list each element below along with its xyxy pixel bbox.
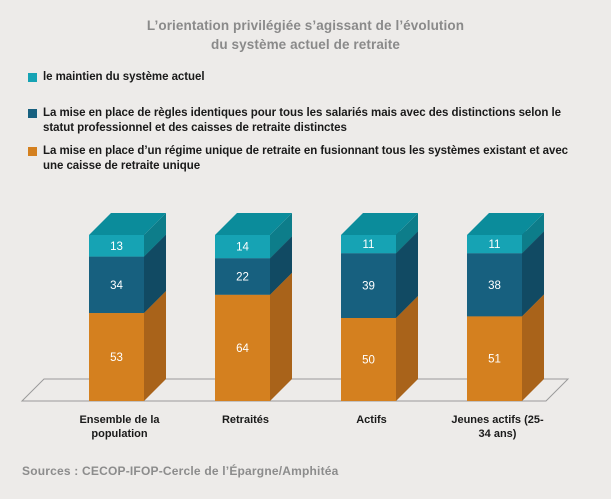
- bar-segment: 53: [89, 291, 166, 401]
- bar-segment: 34: [89, 235, 166, 313]
- chart-category-labels: Ensemble de lapopulationRetraitésActifsJ…: [79, 414, 544, 440]
- chart-bars: 533413642214503911513811: [89, 213, 544, 401]
- chart-legend: le maintien du système actuel La mise en…: [28, 70, 588, 186]
- category-label: population: [91, 428, 147, 440]
- legend-swatch-orange-icon: [28, 147, 37, 156]
- bar-value-label: 22: [236, 272, 249, 284]
- bar-segment: 13: [89, 213, 166, 257]
- bar-group: 533413: [89, 213, 166, 401]
- bar-segment: 11: [467, 213, 544, 253]
- bar-segment: 38: [467, 231, 544, 316]
- legend-swatch-blue-icon: [28, 109, 37, 118]
- chart-floor-plane: [22, 379, 568, 401]
- legend-swatch-teal-icon: [28, 73, 37, 82]
- legend-label-maintien: le maintien du système actuel: [43, 70, 205, 86]
- bar-value-label: 53: [110, 352, 123, 364]
- bar-segment: 11: [341, 213, 418, 253]
- bar-segment: 51: [467, 294, 544, 401]
- legend-item-regles-identiques[interactable]: La mise en place de règles identiques po…: [28, 106, 588, 137]
- bar-value-label: 11: [363, 239, 375, 251]
- category-label: Retraités: [222, 414, 269, 426]
- bar-value-label: 14: [236, 242, 249, 254]
- bar-value-label: 38: [488, 280, 501, 292]
- legend-label-regles-identiques: La mise en place de règles identiques po…: [43, 106, 588, 137]
- legend-item-maintien[interactable]: le maintien du système actuel: [28, 70, 588, 86]
- bar-group: 642214: [215, 213, 292, 401]
- bar-value-label: 39: [362, 281, 375, 293]
- page-title-line-1: L’orientation privilégiée s’agissant de …: [0, 16, 611, 35]
- bar-group: 503911: [341, 213, 418, 401]
- bar-segment: 22: [215, 236, 292, 295]
- bar-value-label: 13: [110, 241, 123, 253]
- bar-value-label: 50: [362, 355, 375, 367]
- legend-label-regime-unique: La mise en place d’un régime unique de r…: [43, 144, 588, 175]
- page-title: L’orientation privilégiée s’agissant de …: [0, 16, 611, 54]
- bar-value-label: 64: [236, 343, 249, 355]
- bar-segment: 64: [215, 273, 292, 401]
- bar-segment: 39: [341, 231, 418, 318]
- legend-item-regime-unique[interactable]: La mise en place d’un régime unique de r…: [28, 144, 588, 175]
- source-note: Sources : CECOP-IFOP-Cercle de l’Épargne…: [22, 464, 339, 478]
- bar-segment: 50: [341, 296, 418, 401]
- bar-value-label: 34: [110, 280, 123, 292]
- bar-segment: 14: [215, 213, 292, 258]
- category-label: Ensemble de la: [79, 414, 160, 426]
- bar-value-label: 51: [488, 354, 501, 366]
- bar-group: 513811: [467, 213, 544, 401]
- category-label: 34 ans): [479, 428, 517, 440]
- category-label: Actifs: [356, 414, 387, 426]
- page-title-line-2: du système actuel de retraite: [0, 35, 611, 54]
- bar-value-label: 11: [489, 239, 501, 251]
- category-label: Jeunes actifs (25-: [451, 414, 544, 426]
